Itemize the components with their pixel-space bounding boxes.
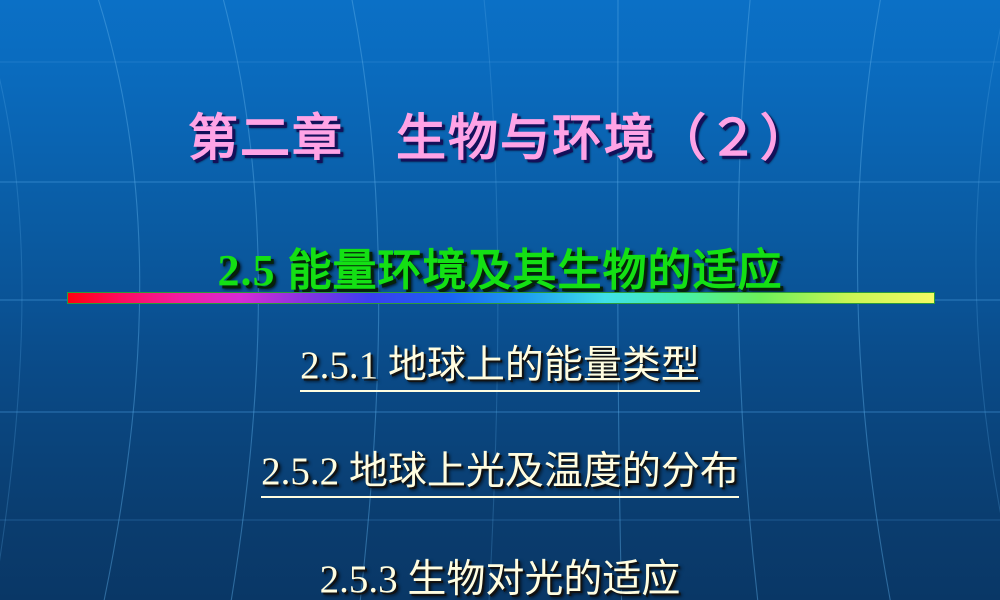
agenda-item-2-label: 2.5.2 地球上光及温度的分布 — [261, 450, 739, 498]
section-title: 2.5 能量环境及其生物的适应 — [0, 234, 1000, 298]
rainbow-divider-rule — [67, 292, 935, 304]
agenda-item-3: 2.5.3 生物对光的适应 — [0, 548, 1000, 600]
chapter-title: 第二章 生物与环境（２） — [0, 98, 1000, 170]
presentation-slide: 第二章 生物与环境（２） 2.5 能量环境及其生物的适应 2.5.1 地球上的能… — [0, 0, 1000, 600]
agenda-item-1: 2.5.1 地球上的能量类型 — [0, 334, 1000, 390]
agenda-item-2: 2.5.2 地球上光及温度的分布 — [0, 440, 1000, 496]
agenda-item-3-label: 2.5.3 生物对光的适应 — [320, 558, 681, 600]
agenda-item-1-label: 2.5.1 地球上的能量类型 — [300, 344, 700, 392]
